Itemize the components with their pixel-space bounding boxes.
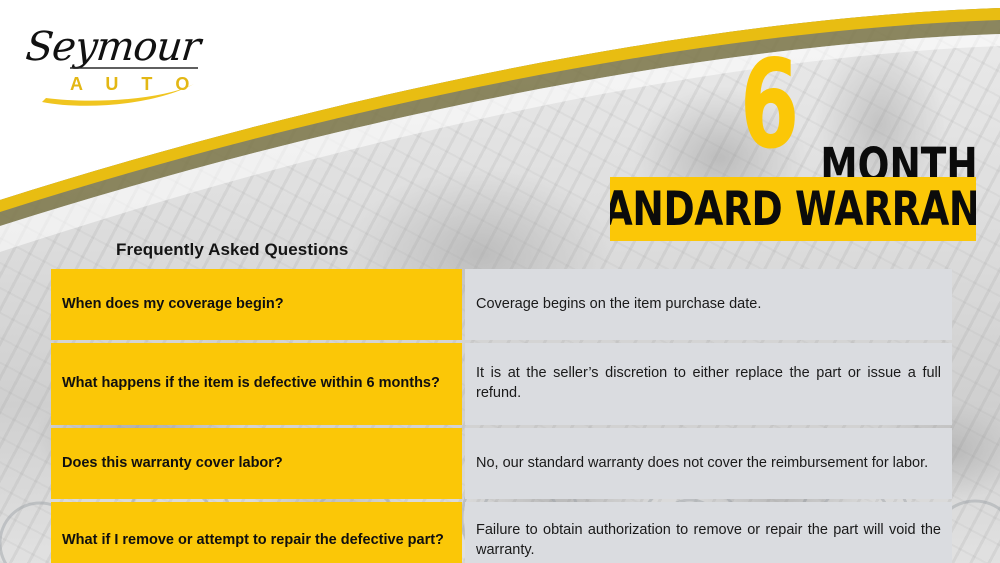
faq-answer-cell: Coverage begins on the item purchase dat… bbox=[465, 269, 952, 340]
faq-answer-cell: It is at the seller’s discretion to eith… bbox=[465, 343, 952, 425]
standard-warranty-banner: STANDARD WARRANTY bbox=[610, 177, 976, 241]
faq-question-cell: What happens if the item is defective wi… bbox=[51, 343, 462, 425]
faq-answer-cell: Failure to obtain authorization to remov… bbox=[465, 502, 952, 563]
table-row: Does this warranty cover labor? No, our … bbox=[51, 428, 952, 499]
table-row: What if I remove or attempt to repair th… bbox=[51, 502, 952, 563]
faq-answer-cell: No, our standard warranty does not cover… bbox=[465, 428, 952, 499]
faq-question-cell: What if I remove or attempt to repair th… bbox=[51, 502, 462, 563]
faq-question-cell: Does this warranty cover labor? bbox=[51, 428, 462, 499]
faq-table: When does my coverage begin? Coverage be… bbox=[48, 266, 955, 563]
faq-section-title: Frequently Asked Questions bbox=[116, 240, 348, 260]
warranty-slide: Seymour A U T O 6 MONTH STANDARD WARRANT… bbox=[0, 0, 1000, 563]
standard-warranty-label: STANDARD WARRANTY bbox=[610, 186, 976, 233]
warranty-headline: 6 MONTH STANDARD WARRANTY bbox=[610, 50, 978, 245]
duration-number: 6 bbox=[740, 50, 798, 160]
table-row: When does my coverage begin? Coverage be… bbox=[51, 269, 952, 340]
table-row: What happens if the item is defective wi… bbox=[51, 343, 952, 425]
logo-underline-swoosh bbox=[22, 18, 222, 110]
seymour-auto-logo: Seymour A U T O bbox=[22, 18, 222, 110]
faq-question-cell: When does my coverage begin? bbox=[51, 269, 462, 340]
